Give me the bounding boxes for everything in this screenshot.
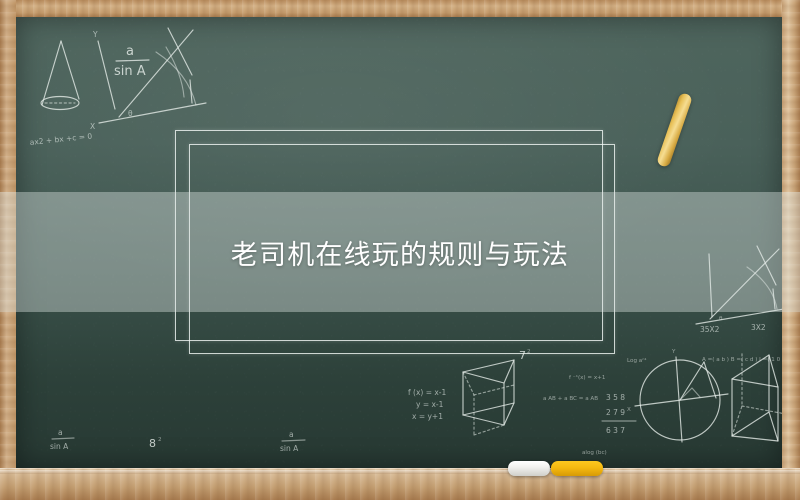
chalk-angle-label: θ (128, 109, 133, 118)
chalk-fn-line-2: y = x-1 (416, 400, 444, 409)
chalk-axis-x-label: X (90, 122, 95, 131)
chalk-ledge-white[interactable] (508, 461, 550, 476)
chalk-inverse-fn: f ⁻¹(x) = x+1 (569, 374, 606, 381)
frame-top-rail (0, 0, 800, 17)
chalk-circle-x-label: X (627, 407, 631, 413)
chalk-multiply-2: 3X2 (751, 323, 766, 332)
ledge-lip (0, 470, 800, 474)
chalk-fraction-b-den: sin A (280, 444, 299, 453)
chalk-exponent-sup: 2 (527, 349, 531, 355)
chalk-right-angle-label: θ (719, 316, 723, 322)
chalk-subtraction-subtrahend: 2 7 9 (606, 408, 625, 417)
chalk-alog-label: alog (bc) (582, 450, 607, 456)
chalk-subtraction-minuend: 3 5 8 (606, 393, 625, 402)
title-overlay-band: 老司机在线玩的规则与玩法 (0, 192, 800, 312)
chalk-group-bottom-right: 35X2 3X2 A =( a b ) B =( c d ) I =( 1 0 … (569, 323, 782, 456)
chalk-small-note: a AB + a BC = a AB (543, 396, 598, 402)
chalk-matrix-note: A =( a b ) B =( c d ) I =( 1 0 ) (702, 357, 782, 363)
chalk-fraction-a: a (58, 428, 63, 437)
chalk-fn-line-1: f (x) = x-1 (408, 388, 447, 397)
chalk-fraction-b-num: a (289, 430, 294, 439)
chalk-square-sup: 2 (158, 437, 162, 443)
chalk-multiply-1: 35X2 (700, 325, 720, 334)
chalk-square-base: 8 (149, 437, 156, 450)
chalk-axis-y-label: Y (92, 30, 98, 39)
chalk-log-label: Log aⁿ¹ (627, 357, 647, 364)
chalk-exponent-base: 7 (519, 349, 526, 362)
chalk-fraction-denominator: sin A (114, 64, 146, 79)
chalk-fraction-sin-a: sin A (50, 442, 69, 451)
chalk-group-top-left: a sin A Y X θ ax2 + bx +c = 0 (29, 28, 206, 147)
chalk-group-bottom-left: f (x) = x-1 y = x-1 x = y+1 7 2 (50, 349, 598, 453)
chalkboard-banner: a sin A Y X θ ax2 + bx +c = 0 (0, 0, 800, 500)
frame-bottom-ledge (0, 468, 800, 500)
page-title: 老司机在线玩的规则与玩法 (231, 233, 569, 272)
chalk-subtraction-difference: 6 3 7 (606, 426, 625, 435)
chalk-quadratic-equation: ax2 + bx +c = 0 (29, 131, 92, 147)
chalk-fraction-numerator: a (126, 44, 134, 59)
chalk-circle-y-label: Y (671, 349, 676, 355)
chalk-fn-line-3: x = y+1 (412, 412, 443, 421)
chalk-ledge-yellow[interactable] (551, 461, 603, 476)
